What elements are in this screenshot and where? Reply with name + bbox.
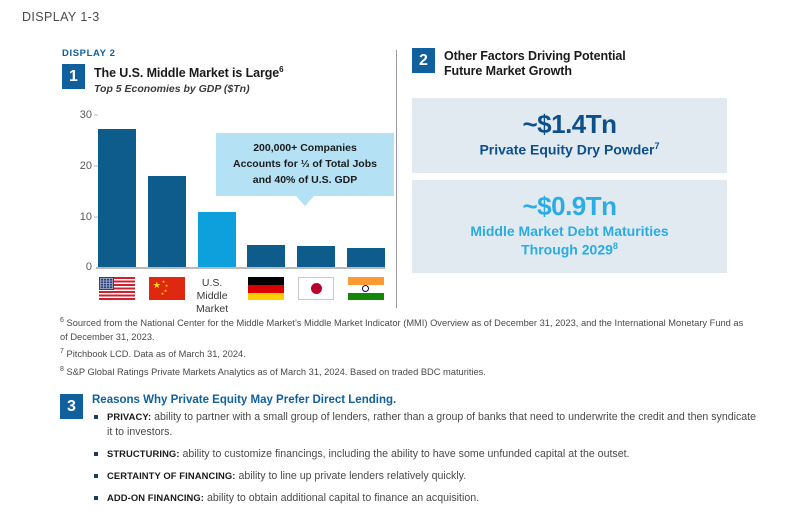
footnote: 6 Sourced from the National Center for t… (60, 316, 750, 344)
bullet-text: ability to customize financings, includi… (180, 448, 630, 460)
x-axis-item: ★★★★★ (148, 277, 186, 315)
bullet-term: Privacy: (107, 411, 151, 422)
footnote: 7 Pitchbook LCD. Data as of March 31, 20… (60, 347, 750, 362)
stat-caption-debt-maturities: Middle Market Debt Maturities Through 20… (422, 223, 717, 259)
y-axis-tick-label: 0 (86, 261, 98, 273)
x-axis-item (297, 277, 335, 315)
left-panel-heading-text: The U.S. Middle Market is Large6 Top 5 E… (94, 64, 284, 95)
bar-india (347, 248, 385, 268)
stat-caption-debt-line-1: Middle Market Debt Maturities (470, 223, 668, 239)
left-panel-header: 1 The U.S. Middle Market is Large6 Top 5… (62, 64, 387, 95)
footnote-text: Sourced from the National Center for the… (60, 318, 743, 341)
bullet-text: ability to partner with a small group of… (107, 411, 756, 438)
badge-3: 3 (60, 394, 83, 419)
panels-container: DISPLAY 2 1 The U.S. Middle Market is La… (0, 48, 790, 316)
bar-united-states (98, 129, 136, 268)
chart-plot-area: 200,000+ Companies Accounts for ⅓ of Tot… (98, 115, 385, 267)
stat-caption-debt-footnote-marker: 8 (613, 241, 618, 251)
left-panel-subtitle: Top 5 Economies by GDP ($Tn) (94, 83, 284, 95)
germany-flag-icon (248, 277, 284, 300)
japan-flag-icon (298, 277, 334, 300)
panel-divider (396, 50, 397, 308)
bullet-item: Privacy: ability to partner with a small… (92, 410, 760, 440)
callout-line-3: and 40% of U.S. GDP (222, 173, 388, 189)
right-panel-title-line-2: Future Market Growth (444, 64, 626, 79)
stat-caption-dry-powder-footnote-marker: 7 (655, 141, 660, 151)
panel-right: 2 Other Factors Driving Potential Future… (412, 48, 727, 316)
stat-value-debt-maturities: ~$0.9Tn (422, 193, 717, 220)
bar-germany (247, 245, 285, 268)
stat-box-dry-powder: ~$1.4Tn Private Equity Dry Powder7 (412, 98, 727, 173)
stat-caption-debt-line-2: Through 2029 (521, 241, 613, 257)
section-3-title: Reasons Why Private Equity May Prefer Di… (92, 394, 760, 406)
footnotes: 6 Sourced from the National Center for t… (60, 316, 750, 382)
stat-value-dry-powder: ~$1.4Tn (422, 111, 717, 138)
footnote-text: Pitchbook LCD. Data as of March 31, 2024… (64, 349, 246, 359)
section-3-body: Reasons Why Private Equity May Prefer Di… (92, 394, 760, 513)
x-axis-item (347, 277, 385, 315)
us-flag-icon (99, 277, 135, 300)
bar-japan (297, 246, 335, 267)
badge-1: 1 (62, 64, 85, 89)
china-flag-icon: ★★★★★ (149, 277, 185, 300)
left-panel-title-text: The U.S. Middle Market is Large (94, 66, 279, 80)
badge-2: 2 (412, 48, 435, 73)
bar-china (148, 176, 186, 267)
footnote: 8 S&P Global Ratings Private Markets Ana… (60, 365, 750, 380)
y-axis-tick-mark (94, 166, 98, 167)
x-axis-item (98, 277, 136, 315)
bullet-item: Add-On Financing: ability to obtain addi… (92, 491, 760, 506)
x-axis-item (247, 277, 285, 315)
footnote-text: S&P Global Ratings Private Markets Analy… (64, 367, 486, 377)
bullet-text: ability to obtain additional capital to … (204, 492, 479, 504)
x-axis-item: U.S. Middle Market (198, 277, 236, 315)
y-axis-tick-mark (94, 115, 98, 116)
right-panel-title-line-1: Other Factors Driving Potential (444, 49, 626, 64)
bullet-term: Add-On Financing: (107, 492, 204, 503)
stat-box-debt-maturities: ~$0.9Tn Middle Market Debt Maturities Th… (412, 180, 727, 273)
bar-chart: 200,000+ Companies Accounts for ⅓ of Tot… (62, 105, 387, 320)
panel-left: DISPLAY 2 1 The U.S. Middle Market is La… (62, 48, 387, 316)
callout-line-2: Accounts for ⅓ of Total Jobs (222, 157, 388, 173)
chart-x-labels: ★★★★★U.S. Middle Market (98, 277, 385, 315)
stat-caption-dry-powder-text: Private Equity Dry Powder (479, 141, 654, 157)
stat-caption-dry-powder: Private Equity Dry Powder7 (422, 141, 717, 159)
left-panel-title-footnote-marker: 6 (279, 65, 283, 74)
x-axis-line (96, 267, 385, 269)
left-panel-title: The U.S. Middle Market is Large6 (94, 65, 284, 81)
bullet-term: Certainty of Financing: (107, 470, 236, 481)
section-3-bullet-list: Privacy: ability to partner with a small… (92, 410, 760, 506)
right-panel-header: 2 Other Factors Driving Potential Future… (412, 48, 727, 80)
bullet-text: ability to line up private lenders relat… (236, 470, 467, 482)
y-axis-tick-mark (94, 216, 98, 217)
right-panel-heading-text: Other Factors Driving Potential Future M… (444, 48, 626, 80)
stat-boxes: ~$1.4Tn Private Equity Dry Powder7 ~$0.9… (412, 98, 727, 273)
india-flag-icon (348, 277, 384, 300)
display-label: DISPLAY 1-3 (22, 10, 100, 24)
bullet-item: Certainty of Financing: ability to line … (92, 469, 760, 484)
display-kicker: DISPLAY 2 (62, 48, 387, 59)
bullet-term: Structuring: (107, 448, 180, 459)
chart-callout: 200,000+ Companies Accounts for ⅓ of Tot… (216, 133, 394, 195)
callout-line-1: 200,000+ Companies (222, 141, 388, 157)
section-3: 3 Reasons Why Private Equity May Prefer … (60, 394, 760, 513)
bullet-item: Structuring: ability to customize financ… (92, 447, 760, 462)
x-axis-text-label: U.S. Middle Market (189, 277, 236, 315)
bar-u-s-middle-market (198, 212, 236, 268)
callout-pointer-icon (296, 196, 314, 206)
